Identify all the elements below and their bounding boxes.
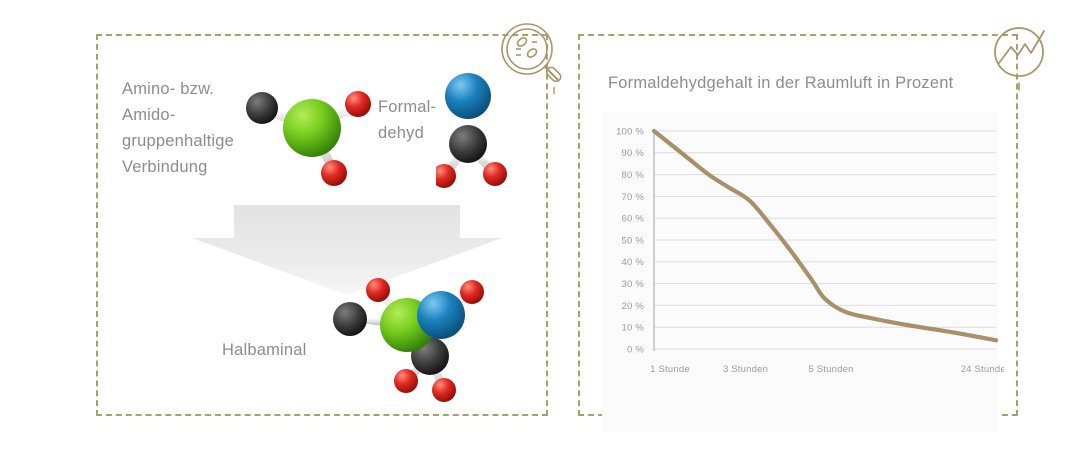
reactant-label: Amino- bzw. Amido- gruppenhaltige Verbin… (122, 76, 272, 180)
y-tick-label: 0 % (627, 344, 644, 355)
y-tick-label: 80 % (622, 170, 645, 181)
y-tick-label: 90 % (622, 148, 645, 159)
chart-canvas: 100 %90 %80 %70 %60 %50 %40 %30 %20 %10 … (592, 62, 1004, 392)
x-tick-label: 24 Stunden (961, 364, 1004, 375)
chart-data-line (654, 131, 996, 340)
chart-gridlines (654, 131, 996, 349)
formaldehyde-label: Formal- dehyd (378, 94, 468, 146)
y-tick-label: 60 % (622, 214, 645, 225)
y-tick-label: 40 % (622, 257, 645, 268)
line-chart: Formaldehydgehalt in der Raumluft in Pro… (592, 62, 1004, 392)
y-tick-label: 50 % (622, 235, 645, 246)
y-tick-label: 70 % (622, 192, 645, 203)
magnifier-molecules-icon (496, 18, 572, 94)
y-tick-label: 30 % (622, 279, 645, 290)
chart-y-axis-labels: 100 %90 %80 %70 %60 %50 %40 %30 %20 %10 … (616, 126, 644, 355)
y-tick-label: 20 % (622, 301, 645, 312)
y-tick-label: 100 % (616, 126, 644, 137)
x-tick-label: 1 Stunde (650, 364, 690, 375)
x-tick-label: 5 Stunden (808, 364, 853, 375)
halbaminal-label: Halbaminal (222, 337, 382, 363)
x-tick-label: 3 Stunden (723, 364, 768, 375)
y-tick-label: 10 % (622, 323, 645, 334)
chart-x-axis-labels: 1 Stunde3 Stunden5 Stunden24 Stunden (650, 364, 1004, 375)
